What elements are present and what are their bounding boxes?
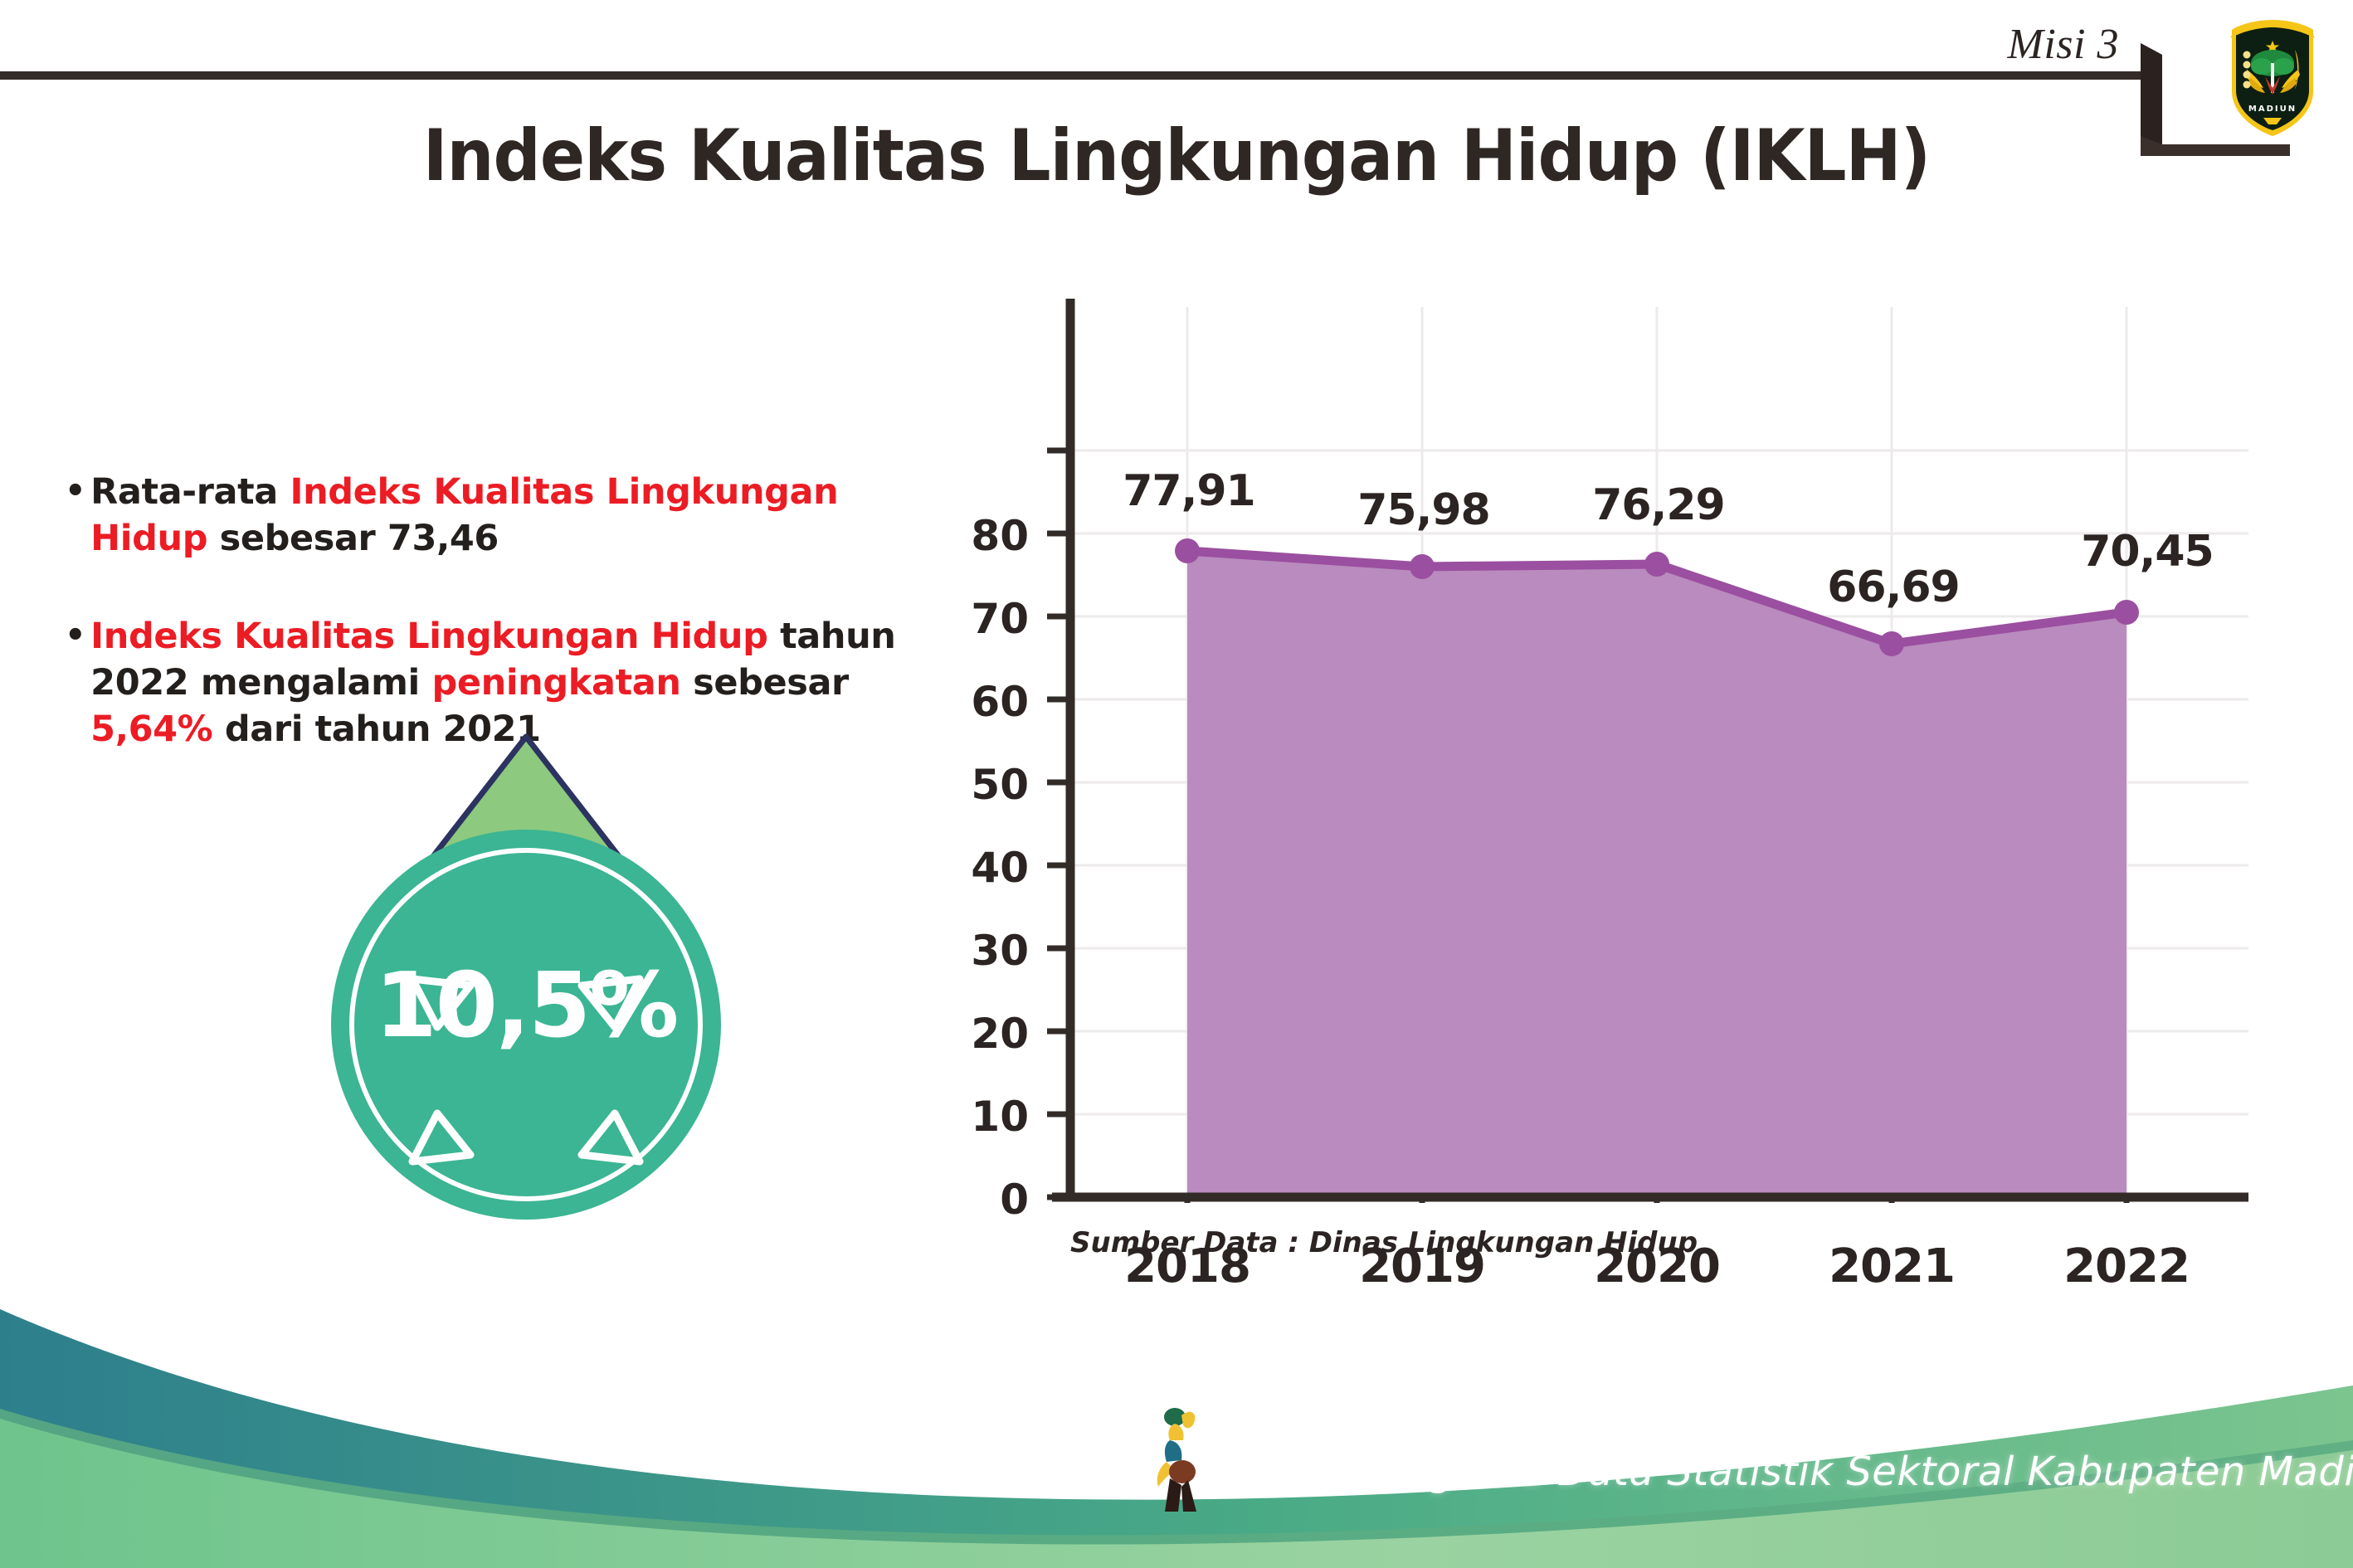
y-tick-label: 10 xyxy=(929,1093,1029,1141)
y-tick-label: 0 xyxy=(929,1176,1029,1224)
chart-svg xyxy=(954,274,2282,1203)
y-tick-label: 20 xyxy=(929,1010,1029,1058)
page-title: Indeks Kualitas Lingkungan Hidup (IKLH) xyxy=(82,114,2270,197)
svg-text:MADIUN: MADIUN xyxy=(2248,105,2297,114)
y-tick-label: 80 xyxy=(929,512,1029,560)
data-label: 70,45 xyxy=(2048,527,2247,577)
mission-label: Misi 3 xyxy=(2008,20,2119,69)
data-label: 77,91 xyxy=(1089,466,1289,516)
y-tick-label: 50 xyxy=(929,761,1029,809)
bullet-seg-highlight: peningkatan xyxy=(431,662,680,704)
data-label: 76,29 xyxy=(1559,480,1758,530)
bullet-seg: Rata-rata xyxy=(90,471,290,513)
dancer-logo-icon xyxy=(1145,1400,1220,1517)
header-divider xyxy=(0,71,2162,80)
badge-value: 10,5% xyxy=(331,954,721,1058)
svg-text:KABUPATEN: KABUPATEN xyxy=(2248,32,2297,40)
data-label: 66,69 xyxy=(1794,562,1993,612)
iklh-area-chart: 0 10 20 30 40 50 60 70 80 2018 2019 2020… xyxy=(954,274,2282,1203)
bullet-marker: • xyxy=(65,614,85,657)
chart-source-note: Sumber Data : Dinas Lingkungan Hidup xyxy=(1070,1226,1698,1259)
bullet-seg: sebesar 73,46 xyxy=(207,518,499,559)
bullet-seg: sebesar xyxy=(681,662,849,704)
list-item: • Rata-rata Indeks Kualitas Lingkungan H… xyxy=(65,470,944,562)
increase-badge: 10,5% xyxy=(331,830,721,1220)
data-label: 75,98 xyxy=(1324,485,1523,535)
y-tick-label: 60 xyxy=(929,678,1029,726)
area-fill xyxy=(1187,551,2126,1197)
bullet-text: Rata-rata Indeks Kualitas Lingkungan Hid… xyxy=(90,470,944,562)
y-tick-label: 70 xyxy=(929,595,1029,643)
bullet-seg-highlight: Indeks Kualitas Lingkungan Hidup xyxy=(90,616,767,657)
slide-canvas: Misi 3 KABUPATEN MADIUN Indeks Kualitas … xyxy=(0,0,2353,1568)
y-tick-label: 30 xyxy=(929,927,1029,975)
footer-text: Media Infografis Data Statistik Sektoral… xyxy=(1218,1449,2353,1495)
y-tick-label: 40 xyxy=(929,844,1029,892)
bullet-marker: • xyxy=(65,470,85,513)
bullet-list: • Rata-rata Indeks Kualitas Lingkungan H… xyxy=(65,470,944,752)
bullet-seg-highlight: 5,64% xyxy=(90,709,212,750)
